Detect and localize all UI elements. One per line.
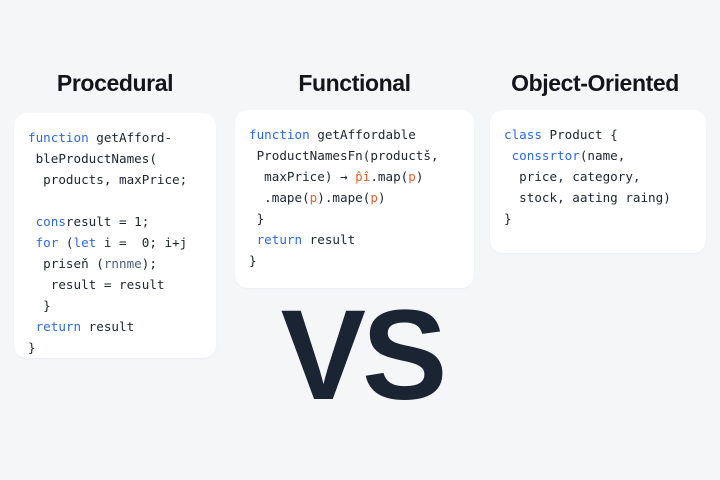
code-token: } — [249, 253, 257, 268]
code-token: rnnme — [104, 256, 142, 271]
code-line: conssrtor(name, — [504, 145, 692, 166]
code-token: ( — [66, 235, 74, 250]
code-line: } — [28, 337, 202, 358]
code-token: let — [74, 235, 97, 250]
code-token: p — [370, 190, 378, 205]
code-token: ); — [142, 256, 157, 271]
code-line: consresult = 1; — [28, 211, 202, 232]
code-line — [28, 190, 202, 211]
code-token: } — [249, 211, 264, 226]
code-token: function — [249, 127, 310, 142]
code-token: } — [504, 211, 512, 226]
code-token: result = 1; — [66, 214, 149, 229]
code-token: } — [28, 340, 36, 355]
code-line: } — [28, 295, 202, 316]
code-token: result — [302, 232, 355, 247]
code-token: class — [504, 127, 542, 142]
code-line: return result — [28, 316, 202, 337]
vs-label: VS — [262, 292, 462, 420]
code-card-object-oriented: class Product { conssrtor(name, price, c… — [490, 110, 706, 253]
code-token: products, maxPrice; — [28, 172, 187, 187]
code-line: priseň (rnnme); — [28, 253, 202, 274]
code-line: ProductNamesFn(productš, — [249, 145, 460, 166]
code-line: for (let i = 0; i+j — [28, 232, 202, 253]
code-token: cons — [28, 214, 66, 229]
code-token: result — [81, 319, 134, 334]
code-line: price, category, — [504, 166, 692, 187]
code-line: stock, aating raing) — [504, 187, 692, 208]
code-token: return — [28, 319, 81, 334]
code-token: i = 0; i+j — [96, 235, 187, 250]
code-token: result = result — [28, 277, 164, 292]
code-line: } — [249, 208, 460, 229]
code-token: maxPrice) → — [249, 169, 355, 184]
code-token: ) — [378, 190, 386, 205]
code-token: ) — [416, 169, 424, 184]
code-token: p̂î — [355, 169, 370, 184]
code-token: getAffordable — [310, 127, 416, 142]
code-token: conssrtor — [504, 148, 580, 163]
code-line: } — [504, 208, 692, 229]
code-token: stock, aating raing) — [504, 190, 671, 205]
code-token: } — [28, 298, 51, 313]
code-line: } — [249, 250, 460, 271]
column-title-procedural: Procedural — [14, 72, 216, 95]
comparison-graphic: Procedural Functional Object-Oriented fu… — [0, 0, 720, 480]
code-line: function getAffordable — [249, 124, 460, 145]
code-token: function — [28, 130, 89, 145]
code-token: .mape( — [249, 190, 310, 205]
code-card-functional: function getAffordable ProductNamesFn(pr… — [235, 110, 474, 288]
code-token: getAfford- — [89, 130, 172, 145]
code-token: ).mape( — [317, 190, 370, 205]
code-line: class Product { — [504, 124, 692, 145]
column-title-functional: Functional — [235, 72, 474, 95]
code-card-procedural: function getAfford- bleProductNames( pro… — [14, 113, 216, 358]
code-token: priseň ( — [28, 256, 104, 271]
code-token: price, category, — [504, 169, 640, 184]
code-line: function getAfford- — [28, 127, 202, 148]
code-line: .mape(p).mape(p) — [249, 187, 460, 208]
code-line: products, maxPrice; — [28, 169, 202, 190]
code-token: .map( — [370, 169, 408, 184]
code-line: bleProductNames( — [28, 148, 202, 169]
column-title-object-oriented: Object-Oriented — [484, 72, 706, 95]
code-token: (name, — [580, 148, 626, 163]
code-line: result = result — [28, 274, 202, 295]
code-token: p — [408, 169, 416, 184]
code-token: bleProductNames( — [28, 151, 157, 166]
code-token: for — [28, 235, 66, 250]
code-token: return — [249, 232, 302, 247]
code-line: maxPrice) → p̂î.map(p) — [249, 166, 460, 187]
code-token: Product { — [542, 127, 618, 142]
code-token: ProductNamesFn(productš, — [249, 148, 439, 163]
code-line: return result — [249, 229, 460, 250]
